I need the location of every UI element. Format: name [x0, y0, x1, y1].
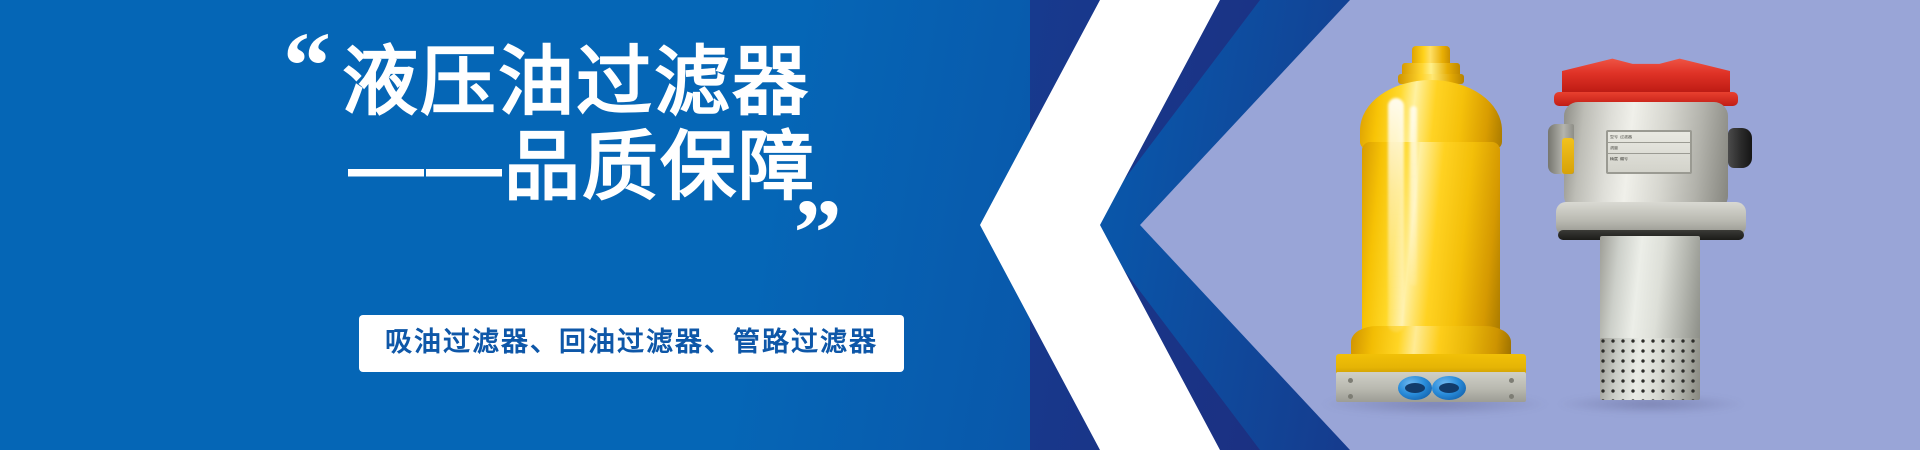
mount-bolt: [1509, 378, 1514, 383]
promo-banner: “ 液压油过滤器 ——品质保障 “ 吸油过滤器、回油过滤器、管路过滤器: [0, 0, 1920, 450]
yellow-filter-port: [1432, 376, 1466, 400]
headline-line-1: 液压油过滤器: [330, 40, 950, 125]
grey-filter-spec-plate: 型号 过滤器 流量 精度 编号: [1606, 130, 1692, 174]
product-image-grey-filter: 型号 过滤器 流量 精度 编号: [1546, 42, 1756, 402]
headline: 液压油过滤器 ——品质保障: [330, 40, 950, 210]
headline-block: “ 液压油过滤器 ——品质保障 “ 吸油过滤器、回油过滤器、管路过滤器: [0, 0, 1010, 450]
mount-bolt: [1348, 394, 1353, 399]
yellow-filter-port-bore: [1439, 383, 1459, 393]
yellow-filter-body: [1362, 142, 1500, 348]
product-image-yellow-filter: [1336, 46, 1526, 396]
grey-filter-yellow-tab: [1562, 138, 1574, 174]
spec-plate-row: 型号 过滤器: [1608, 132, 1690, 143]
yellow-filter-port: [1398, 376, 1432, 400]
spec-plate-row: 流量: [1608, 143, 1690, 154]
yellow-filter-highlight-2: [1410, 106, 1417, 286]
yellow-filter-highlight: [1388, 98, 1404, 332]
grey-filter-perforated-mesh: [1600, 338, 1700, 400]
spec-plate-cell: 编号: [1618, 157, 1628, 161]
quote-open-icon: “: [283, 18, 325, 114]
mount-bolt: [1348, 378, 1353, 383]
quote-close-icon: “: [800, 150, 842, 246]
spec-plate-cell: 精度: [1608, 157, 1618, 161]
grey-filter-strainer-tube: [1600, 236, 1700, 344]
spec-plate-cell: 流量: [1608, 146, 1618, 150]
spec-plate-cell: 过滤器: [1618, 135, 1632, 139]
subtitle-text: 吸油过滤器、回油过滤器、管路过滤器: [385, 326, 878, 360]
grey-filter-black-knob: [1728, 128, 1752, 168]
spec-plate-cell: 型号: [1608, 135, 1618, 139]
yellow-filter-port-bore: [1405, 383, 1425, 393]
spec-plate-row: 精度 编号: [1608, 154, 1690, 164]
headline-line-2: ——品质保障: [330, 125, 950, 210]
mount-bolt: [1509, 394, 1514, 399]
subtitle-box: 吸油过滤器、回油过滤器、管路过滤器: [359, 315, 904, 372]
